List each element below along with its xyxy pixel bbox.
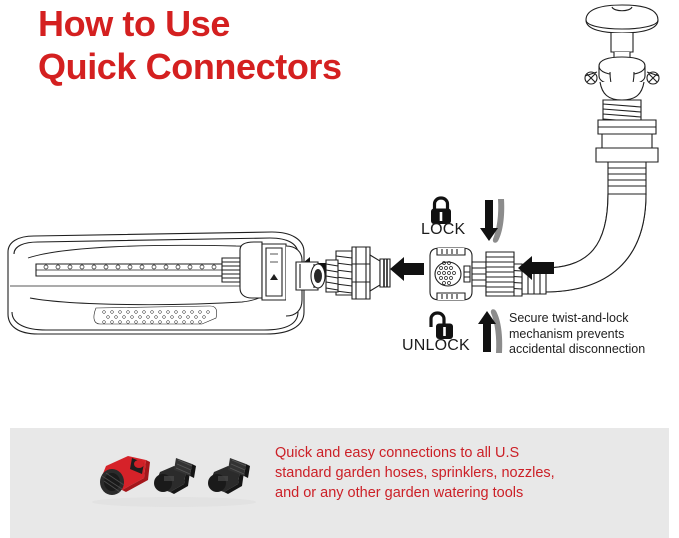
product-black-a [154,458,196,494]
threaded-male-hose-adapter [334,243,396,303]
unlock-caption: UNLOCK [402,337,470,355]
title-line-1: How to Use [38,2,458,45]
open-padlock-icon [426,312,454,340]
lock-caption: LOCK [421,221,465,239]
rotate-down-arrow [474,196,508,244]
page-title: How to Use Quick Connectors [38,2,458,88]
secure-note: Secure twist-and-lock mechanism prevents… [509,311,677,358]
title-line-2: Quick Connectors [38,45,458,88]
product-photo-row [88,446,260,508]
band-text-line-1: Quick and easy connections to all U.S [275,443,675,463]
quick-connect-coupling [424,246,520,302]
oscillating-sprinkler [4,228,340,340]
infographic-canvas: How to Use Quick Connectors [0,0,679,538]
product-black-b [208,458,250,494]
secure-note-line-3: accidental disconnection [509,342,677,358]
secure-note-line-1: Secure twist-and-lock [509,311,677,327]
bottom-band-text: Quick and easy connections to all U.S st… [275,443,675,503]
secure-note-line-2: mechanism prevents [509,327,677,343]
band-text-line-2: standard garden hoses, sprinklers, nozzl… [275,463,675,483]
rotate-up-arrow [472,308,506,356]
band-text-line-3: and or any other garden watering tools [275,483,675,503]
arrow-left-3 [518,256,554,280]
